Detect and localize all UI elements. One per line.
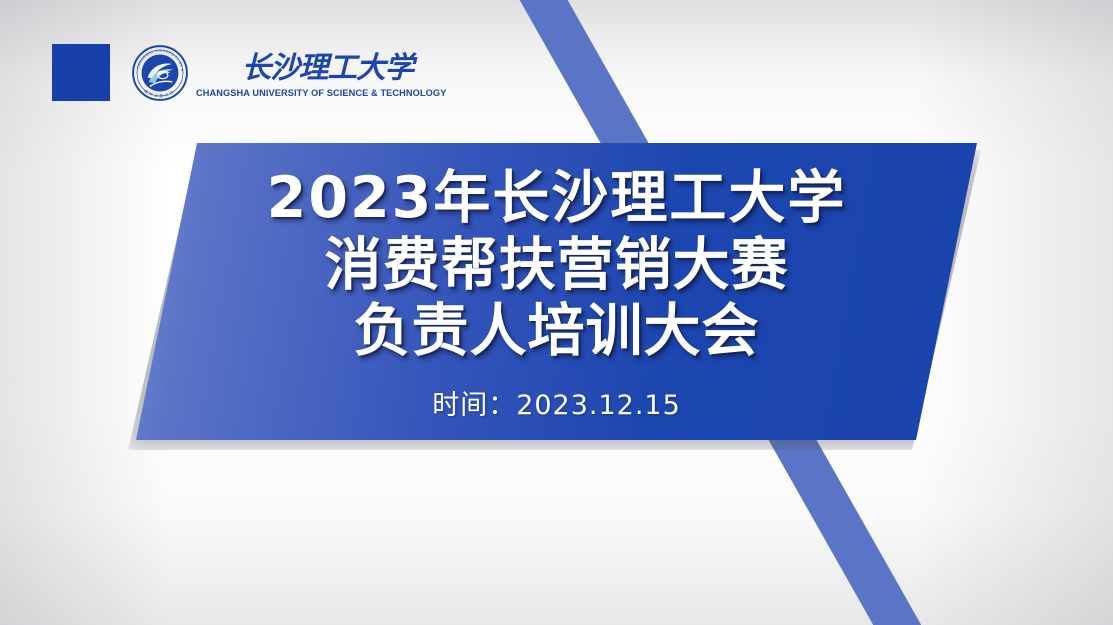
background-gradient-bottom	[0, 415, 1113, 625]
blue-accent-square	[52, 44, 110, 101]
title-text-block: 2023年长沙理工大学 消费帮扶营销大赛 负责人培训大会 时间：2023.12.…	[136, 143, 977, 440]
university-wordmark: 长沙理工大学 CHANGSHA UNIVERSITY OF SCIENCE & …	[196, 47, 454, 99]
university-name-cn-calligraphy: 长沙理工大学	[196, 47, 454, 87]
university-name-cn-text: 长沙理工大学	[242, 50, 419, 84]
presentation-slide: CHANGSHA UNIVERSITY OF SCIENCE & TECH 长沙…	[0, 0, 1113, 625]
title-line-1: 2023年长沙理工大学	[267, 165, 847, 232]
changsha-university-emblem-icon: CHANGSHA UNIVERSITY OF SCIENCE & TECH 长沙…	[132, 45, 188, 101]
university-name-en: CHANGSHA UNIVERSITY OF SCIENCE & TECHNOL…	[196, 88, 446, 99]
event-date-subtitle: 时间：2023.12.15	[432, 383, 681, 422]
title-line-3: 负责人培训大会	[354, 298, 760, 365]
slide-header: CHANGSHA UNIVERSITY OF SCIENCE & TECH 长沙…	[52, 44, 454, 101]
university-logo: CHANGSHA UNIVERSITY OF SCIENCE & TECH 长沙…	[132, 45, 454, 101]
title-line-2: 消费帮扶营销大赛	[325, 232, 789, 299]
